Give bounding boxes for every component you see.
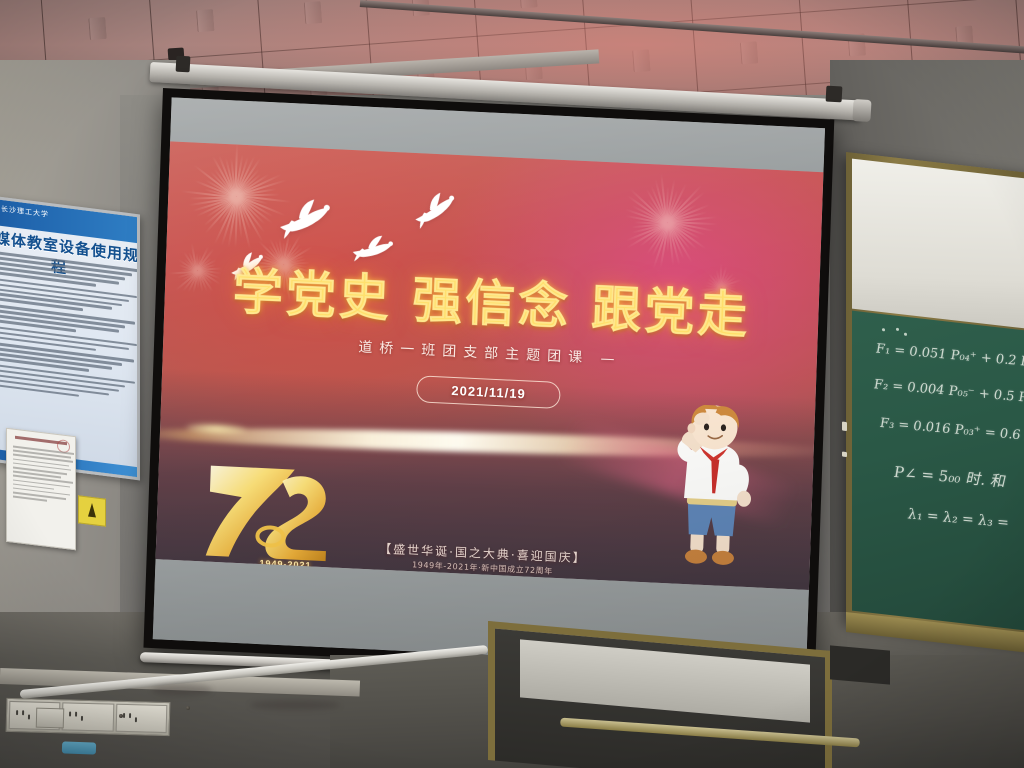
chalk-mark [882, 328, 885, 331]
notice-body-lines [7, 445, 75, 505]
peace-dove-icon [274, 198, 337, 248]
podium-desk-slot [830, 645, 890, 684]
power-socket-3[interactable] [115, 704, 167, 733]
light-switch-box[interactable] [36, 708, 65, 729]
notice-paper [6, 428, 76, 551]
classroom-scene: 长沙理工大学 多媒体教室设备使用规程 学党史 强信念 跟党走 道桥一班团支部主题… [0, 0, 1024, 768]
wall-outlet-panel[interactable] [6, 698, 171, 736]
wall-scuff-1 [152, 684, 212, 696]
power-socket-2[interactable] [62, 702, 114, 731]
whiteboard-panel [852, 159, 1024, 331]
peace-dove-icon [407, 190, 464, 238]
electrical-hazard-sticker [78, 495, 106, 526]
board-hook-1 [842, 422, 847, 432]
board-hook-2 [842, 452, 847, 458]
chalkboard-formula: F₂ = 0.004 P₀₅⁻ + 0.5 P [874, 377, 1024, 406]
chalkboard-formula: F₁ = 0.051 P₀₄⁺ + 0.2 P [876, 341, 1024, 370]
wall-screw-1 [119, 714, 123, 718]
green-chalkboard: F₁ = 0.051 P₀₄⁺ + 0.2 PF₂ = 0.004 P₀₅⁻ +… [852, 311, 1024, 633]
screen-surface: 学党史 强信念 跟党走 道桥一班团支部主题团课 — 2021/11/19 [153, 97, 825, 669]
poster-body-text [0, 249, 140, 410]
roller-mount-right [826, 86, 843, 103]
chalkboard-formula: F₃ = 0.016 P₀₃⁺ = 0.6 P [880, 416, 1024, 445]
firework-burst [614, 168, 722, 277]
chalkboard-formula: P∠ = 5₀₀ 时. 和 [894, 461, 1005, 492]
wall-scuff-2 [250, 700, 340, 710]
chalk-mark [896, 328, 899, 331]
saluting-boy-icon [653, 403, 771, 578]
chalkboard-assembly: F₁ = 0.051 P₀₄⁺ + 0.2 PF₂ = 0.004 P₀₅⁻ +… [846, 152, 1024, 645]
blue-label-tag [62, 741, 96, 754]
chalk-mark [904, 333, 907, 336]
wall-screw-2 [186, 706, 190, 710]
projection-screen: 学党史 强信念 跟党走 道桥一班团支部主题团课 — 2021/11/19 [143, 88, 834, 679]
chalkboard-formula: λ₁ = λ₂ = λ₃ = [908, 506, 1009, 531]
roller-end-cap [852, 99, 871, 122]
hazard-bolt-icon [88, 503, 96, 518]
presentation-slide: 学党史 强信念 跟党走 道桥一班团支部主题团课 — 2021/11/19 [156, 141, 824, 590]
roller-mount-left [176, 56, 191, 73]
